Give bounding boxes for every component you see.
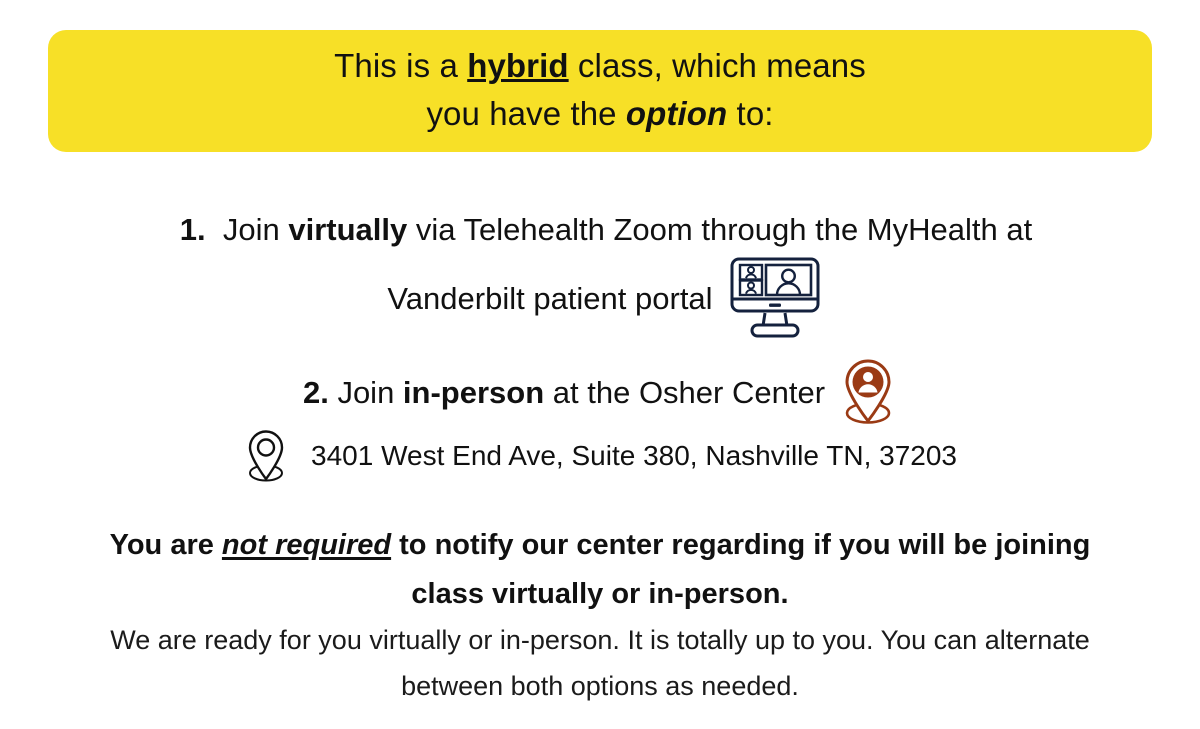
- location-pin-icon: [243, 428, 289, 484]
- option-2-number: 2.: [303, 375, 329, 410]
- flyer-page: This is a hybrid class, which means you …: [0, 0, 1200, 729]
- notice-paragraph: You are not required to notify our cente…: [100, 521, 1100, 619]
- option-2-line-1: 2. Join in-person at the Osher Center: [303, 366, 825, 419]
- option-1-line-2: Vanderbilt patient portal: [0, 256, 1200, 340]
- option-1-emphasis: virtually: [288, 212, 407, 247]
- option-2-suffix: at the Osher Center: [544, 375, 825, 410]
- hybrid-class-banner: This is a hybrid class, which means you …: [48, 30, 1152, 152]
- banner-option-emphasis: option: [626, 95, 727, 132]
- video-call-monitor-icon: [727, 256, 823, 340]
- location-pin-person-icon: [839, 358, 897, 426]
- option-1-line-2-text: Vanderbilt patient portal: [387, 272, 712, 325]
- banner-line-2: you have the option to:: [426, 90, 773, 138]
- banner-hybrid-emphasis: hybrid: [467, 47, 568, 84]
- option-1-prefix: Join: [223, 212, 288, 247]
- banner-line-1: This is a hybrid class, which means: [334, 42, 866, 90]
- option-1-number: 1.: [180, 212, 206, 247]
- option-1-line-1: 1. Join virtually via Telehealth Zoom th…: [0, 203, 1200, 256]
- notice-emphasis: not required: [222, 529, 391, 561]
- option-item-virtual: 1. Join virtually via Telehealth Zoom th…: [0, 203, 1200, 340]
- option-2-emphasis: in-person: [403, 375, 544, 410]
- banner-line-1-suffix: class, which means: [569, 47, 866, 84]
- closing-line-1: We are ready for you virtually or in-per…: [110, 625, 977, 655]
- banner-line-1-prefix: This is a: [334, 47, 467, 84]
- option-item-in-person: 2. Join in-person at the Osher Center: [0, 358, 1200, 426]
- notice-suffix: to notify our center regarding if you wi…: [391, 529, 987, 561]
- banner-line-2-suffix: to:: [727, 95, 773, 132]
- closing-paragraph: We are ready for you virtually or in-per…: [100, 617, 1100, 709]
- banner-line-2-prefix: you have the: [426, 95, 625, 132]
- address-row: 3401 West End Ave, Suite 380, Nashville …: [0, 428, 1200, 484]
- option-2-prefix: Join: [337, 375, 402, 410]
- option-1-suffix: via Telehealth Zoom through the MyHealth…: [407, 212, 1032, 247]
- notice-prefix: You are: [110, 529, 222, 561]
- address-text: 3401 West End Ave, Suite 380, Nashville …: [311, 436, 957, 476]
